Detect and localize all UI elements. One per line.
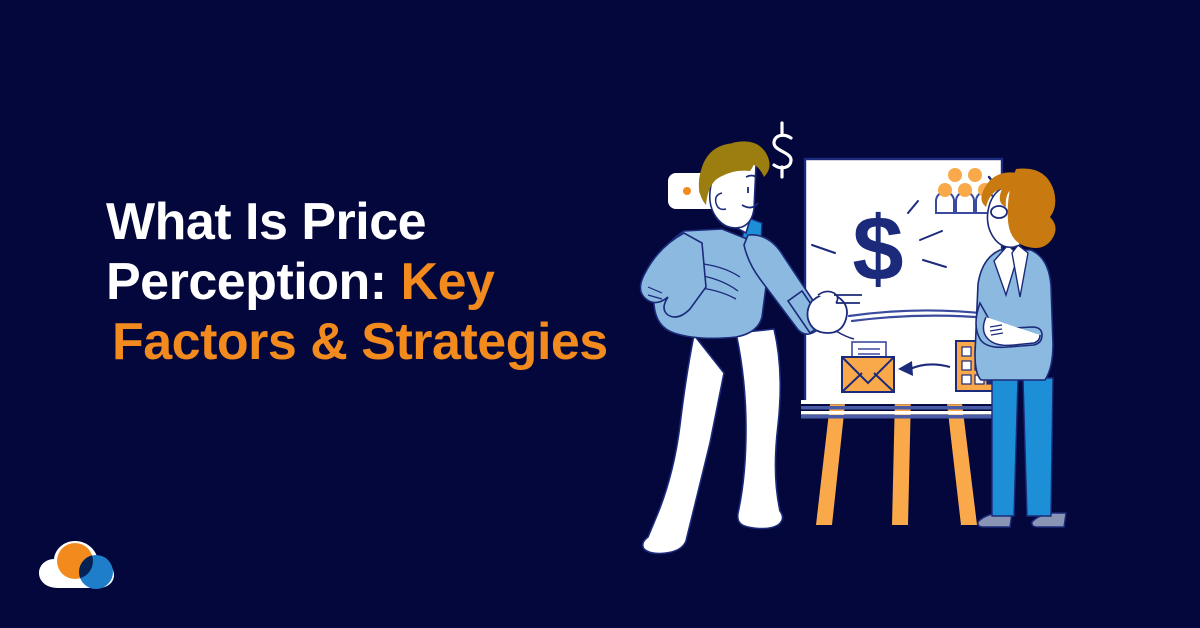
- audience-head-5: [968, 168, 982, 182]
- audience-head-1: [938, 183, 952, 197]
- banner-root: What Is Price Perception: Key Factors & …: [0, 0, 1200, 628]
- headline-line-1: What Is Price: [106, 192, 686, 252]
- illustration-svg: $: [620, 95, 1140, 555]
- bubble-dot-1: [683, 187, 691, 195]
- woman-leg-right: [1023, 378, 1053, 516]
- woman-leg-left: [992, 378, 1018, 516]
- brand-logo[interactable]: [36, 536, 122, 598]
- man-leg-back: [643, 335, 724, 554]
- hero-illustration: $: [620, 95, 1140, 555]
- cloud-logo-icon: [36, 536, 122, 598]
- woman-hair-back: [1008, 168, 1056, 248]
- headline-line-2-accent-text: Key: [401, 253, 495, 311]
- headline-line-2: Perception: Key: [106, 252, 686, 312]
- woman-standing-arms-crossed: [975, 168, 1066, 527]
- audience-head-4: [948, 168, 962, 182]
- headline-line-3-accent-text: Factors & Strategies: [112, 313, 608, 371]
- man-leg-front: [736, 329, 783, 529]
- floating-dollar-icon: [774, 123, 791, 177]
- page-title: What Is Price Perception: Key Factors & …: [106, 192, 686, 372]
- headline-line-1-text: What Is Price: [106, 193, 426, 251]
- headline-line-3: Factors & Strategies: [106, 312, 686, 372]
- audience-head-2: [958, 183, 972, 197]
- svg-text:$: $: [852, 198, 903, 300]
- headline-line-2-white-text: Perception:: [106, 253, 387, 311]
